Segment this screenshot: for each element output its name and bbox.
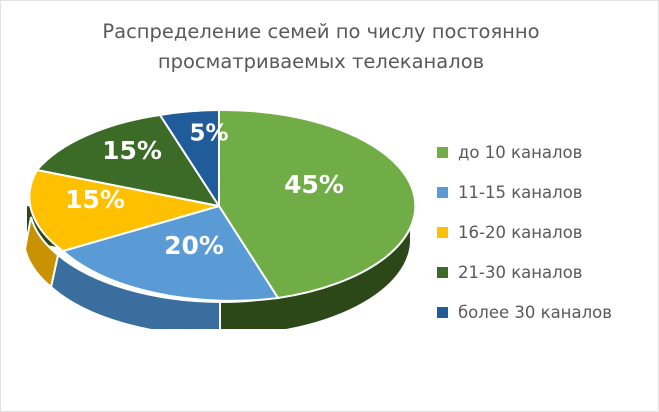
legend-label-more-than-30: более 30 каналов bbox=[458, 303, 612, 322]
pie-label-green: 45% bbox=[284, 170, 344, 199]
chart-title-line-2: просматриваемых телеканалов bbox=[158, 50, 484, 73]
pie-chart-container: Распределение семей по числу постоянно п… bbox=[0, 0, 659, 412]
pie-label-darkblue: 5% bbox=[189, 121, 228, 147]
chart-legend: до 10 каналов 11-15 каналов 16-20 канало… bbox=[437, 132, 652, 332]
legend-swatch-green bbox=[437, 147, 448, 158]
legend-label-up-to-10: до 10 каналов bbox=[458, 143, 582, 162]
pie-label-yellow: 15% bbox=[65, 185, 125, 214]
pie-plot-area: 45% 20% 15% 15% 5% bbox=[1, 89, 431, 329]
legend-item-11-15[interactable]: 11-15 каналов bbox=[437, 172, 652, 212]
chart-title: Распределение семей по числу постоянно п… bbox=[61, 17, 581, 77]
legend-swatch-yellow bbox=[437, 227, 448, 238]
legend-item-up-to-10[interactable]: до 10 каналов bbox=[437, 132, 652, 172]
legend-swatch-darkblue bbox=[437, 307, 448, 318]
pie-svg: 45% 20% 15% 15% 5% bbox=[1, 89, 431, 329]
legend-label-11-15: 11-15 каналов bbox=[458, 183, 583, 202]
legend-label-16-20: 16-20 каналов bbox=[458, 223, 583, 242]
pie-label-darkgreen: 15% bbox=[102, 136, 162, 165]
pie-label-blue: 20% bbox=[164, 231, 224, 260]
legend-item-21-30[interactable]: 21-30 каналов bbox=[437, 252, 652, 292]
chart-title-line-1: Распределение семей по числу постоянно bbox=[102, 20, 539, 43]
legend-item-more-than-30[interactable]: более 30 каналов bbox=[437, 292, 652, 332]
legend-swatch-darkgreen bbox=[437, 267, 448, 278]
legend-swatch-blue bbox=[437, 187, 448, 198]
legend-label-21-30: 21-30 каналов bbox=[458, 263, 583, 282]
legend-item-16-20[interactable]: 16-20 каналов bbox=[437, 212, 652, 252]
